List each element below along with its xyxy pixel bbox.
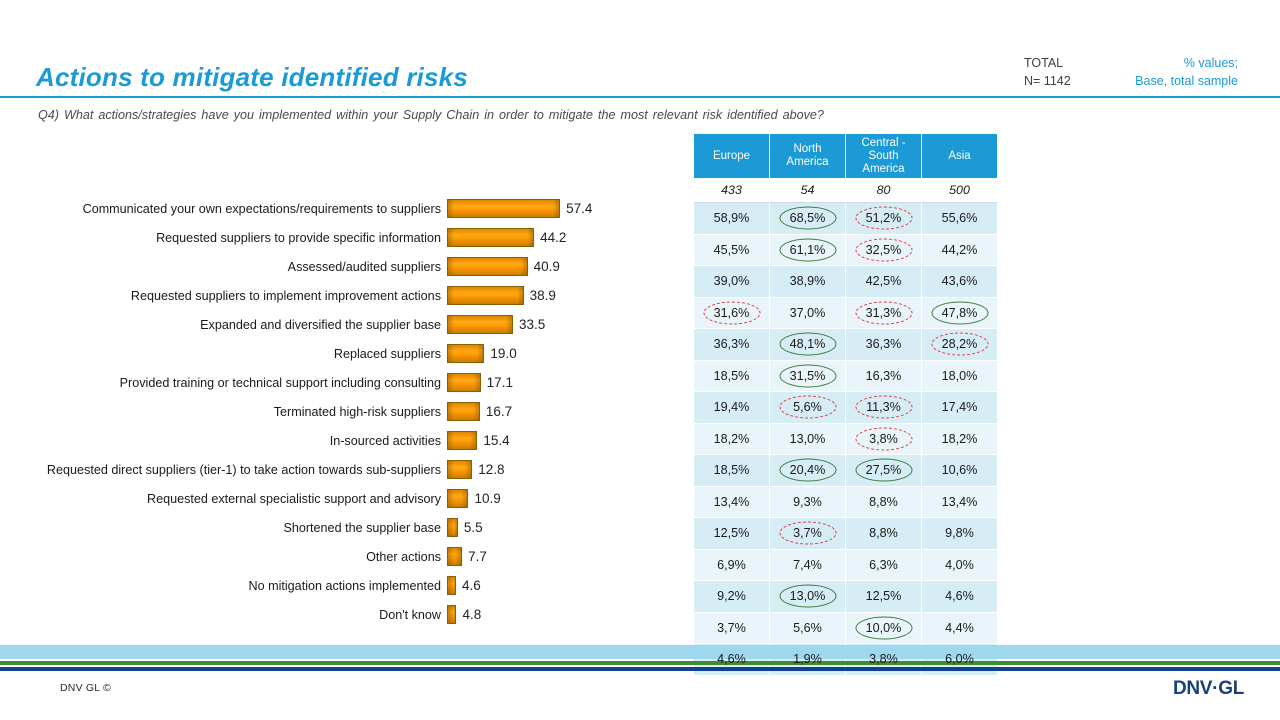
bar-fill xyxy=(447,315,513,334)
table-cell: 18,2% xyxy=(694,423,770,455)
bar-row: Shortened the supplier base5.5 xyxy=(0,513,640,542)
footer-band-green xyxy=(0,661,1280,665)
table-cell-value: 39,0% xyxy=(714,274,750,288)
bar-with-value: 5.5 xyxy=(447,518,483,537)
bar-fill xyxy=(447,373,481,392)
table-cell: 38,9% xyxy=(770,266,846,298)
table-cell-value: 42,5% xyxy=(866,274,902,288)
table-cell: 51,2% xyxy=(846,203,922,235)
table-cell: 4,6% xyxy=(922,581,998,613)
table-cell-value: 6,3% xyxy=(869,558,898,572)
bar-with-value: 19.0 xyxy=(447,344,517,363)
table-cell-value: 13,4% xyxy=(942,495,978,509)
table-row: 3,7%5,6%10,0%4,4% xyxy=(694,612,997,644)
table-cell-value: 5,6% xyxy=(793,400,822,414)
table-row: 45,5%61,1%32,5%44,2% xyxy=(694,234,997,266)
bar-with-value: 44.2 xyxy=(447,228,566,247)
table-cell-value: 10,6% xyxy=(942,463,978,477)
table-cell: 28,2% xyxy=(922,329,998,361)
table-cell: 20,4% xyxy=(770,455,846,487)
table-cell-value: 3,7% xyxy=(793,526,822,540)
table-cell: 4,4% xyxy=(922,612,998,644)
table-cell: 18,5% xyxy=(694,360,770,392)
table-cell-value: 61,1% xyxy=(790,243,826,257)
bar-category-label: Requested suppliers to provide specific … xyxy=(0,231,447,245)
table-cell: 3,7% xyxy=(770,518,846,550)
total-base-block: TOTAL N= 1142 xyxy=(1024,54,1071,90)
table-row: 18,5%20,4%27,5%10,6% xyxy=(694,455,997,487)
total-label: TOTAL xyxy=(1024,54,1071,72)
bar-value-label: 4.8 xyxy=(462,607,481,622)
bar-fill xyxy=(447,257,528,276)
table-cell-value: 1,9% xyxy=(793,652,822,666)
bar-row: Requested external specialistic support … xyxy=(0,484,640,513)
table-cell: 31,5% xyxy=(770,360,846,392)
bar-value-label: 57.4 xyxy=(566,201,592,216)
table-cell: 16,3% xyxy=(846,360,922,392)
table-cell: 19,4% xyxy=(694,392,770,424)
table-cell: 17,4% xyxy=(922,392,998,424)
bar-value-label: 10.9 xyxy=(474,491,500,506)
table-cell-value: 58,9% xyxy=(714,211,750,225)
bar-category-label: Provided training or technical support i… xyxy=(0,376,447,390)
values-note-block: % values; Base, total sample xyxy=(1110,54,1238,90)
bar-with-value: 7.7 xyxy=(447,547,487,566)
table-row: 6,9%7,4%6,3%4,0% xyxy=(694,549,997,581)
bar-fill xyxy=(447,199,560,218)
table-cell: 9,3% xyxy=(770,486,846,518)
table-cell: 55,6% xyxy=(922,203,998,235)
table-cell-value: 9,8% xyxy=(945,526,974,540)
bar-with-value: 57.4 xyxy=(447,199,592,218)
footer-copyright: DNV GL © xyxy=(60,682,111,694)
bar-row: Requested suppliers to provide specific … xyxy=(0,223,640,252)
table-column-header[interactable]: North America xyxy=(770,134,846,178)
table-cell-value: 47,8% xyxy=(942,306,978,320)
table-cell-value: 18,5% xyxy=(714,463,750,477)
table-cell: 10,6% xyxy=(922,455,998,487)
bar-row: Other actions7.7 xyxy=(0,542,640,571)
table-cell-value: 31,5% xyxy=(790,369,826,383)
table-header: EuropeNorth AmericaCentral - South Ameri… xyxy=(694,134,997,178)
table-cell: 48,1% xyxy=(770,329,846,361)
bar-value-label: 40.9 xyxy=(534,259,560,274)
page-title: Actions to mitigate identified risks xyxy=(36,62,468,93)
table-row: 9,2%13,0%12,5%4,6% xyxy=(694,581,997,613)
bar-row: No mitigation actions implemented4.6 xyxy=(0,571,640,600)
table-row: 18,5%31,5%16,3%18,0% xyxy=(694,360,997,392)
table-cell: 42,5% xyxy=(846,266,922,298)
bar-fill xyxy=(447,489,468,508)
question-text: Q4) What actions/strategies have you imp… xyxy=(38,108,824,122)
table-cell-value: 4,4% xyxy=(945,621,974,635)
table-cell-value: 5,6% xyxy=(793,621,822,635)
table-cell-value: 44,2% xyxy=(942,243,978,257)
bar-category-label: Communicated your own expectations/requi… xyxy=(0,202,447,216)
bar-fill xyxy=(447,431,477,450)
table-cell-value: 12,5% xyxy=(866,589,902,603)
table-cell: 4,0% xyxy=(922,549,998,581)
bar-category-label: In-sourced activities xyxy=(0,434,447,448)
table-cell: 31,3% xyxy=(846,297,922,329)
table-cell-value: 48,1% xyxy=(790,337,826,351)
table-row: 58,9%68,5%51,2%55,6% xyxy=(694,203,997,235)
table-cell: 5,6% xyxy=(770,392,846,424)
bar-category-label: No mitigation actions implemented xyxy=(0,579,447,593)
table-cell: 32,5% xyxy=(846,234,922,266)
table-cell: 13,0% xyxy=(770,423,846,455)
table-cell-value: 10,0% xyxy=(866,621,902,635)
table-cell-value: 19,4% xyxy=(714,400,750,414)
table-cell: 8,8% xyxy=(846,518,922,550)
table-cell: 3,8% xyxy=(846,423,922,455)
table-cell: 36,3% xyxy=(694,329,770,361)
table-base-value: 433 xyxy=(694,178,770,203)
table-cell: 12,5% xyxy=(846,581,922,613)
table-cell: 44,2% xyxy=(922,234,998,266)
bar-with-value: 4.8 xyxy=(447,605,481,624)
values-note-line2: Base, total sample xyxy=(1110,72,1238,90)
table-cell-value: 37,0% xyxy=(790,306,826,320)
table-cell-value: 31,3% xyxy=(866,306,902,320)
table-cell: 3,7% xyxy=(694,612,770,644)
bar-with-value: 4.6 xyxy=(447,576,481,595)
bar-value-label: 15.4 xyxy=(483,433,509,448)
table-cell-value: 3,7% xyxy=(717,621,746,635)
bar-with-value: 38.9 xyxy=(447,286,556,305)
table-cell: 8,8% xyxy=(846,486,922,518)
bar-category-label: Other actions xyxy=(0,550,447,564)
table-cell-value: 8,8% xyxy=(869,526,898,540)
table-cell: 68,5% xyxy=(770,203,846,235)
bar-category-label: Don't know xyxy=(0,608,447,622)
bar-value-label: 19.0 xyxy=(490,346,516,361)
table-cell: 18,5% xyxy=(694,455,770,487)
table-column-header[interactable]: Central - South America xyxy=(846,134,922,178)
bar-row: In-sourced activities15.4 xyxy=(0,426,640,455)
table-body: 433548050058,9%68,5%51,2%55,6%45,5%61,1%… xyxy=(694,178,997,675)
bar-row: Communicated your own expectations/requi… xyxy=(0,194,640,223)
table-cell-value: 18,2% xyxy=(714,432,750,446)
bar-row: Requested suppliers to implement improve… xyxy=(0,281,640,310)
table-cell-value: 9,3% xyxy=(793,495,822,509)
table-cell-value: 18,2% xyxy=(942,432,978,446)
table-cell-value: 18,0% xyxy=(942,369,978,383)
bar-fill xyxy=(447,576,456,595)
table-cell: 45,5% xyxy=(694,234,770,266)
table-cell-value: 13,0% xyxy=(790,432,826,446)
footer-band-lightblue xyxy=(0,645,1280,659)
table-header-row: EuropeNorth AmericaCentral - South Ameri… xyxy=(694,134,997,178)
bar-value-label: 5.5 xyxy=(464,520,483,535)
bar-row: Terminated high-risk suppliers16.7 xyxy=(0,397,640,426)
bar-category-label: Assessed/audited suppliers xyxy=(0,260,447,274)
table-cell-value: 4,6% xyxy=(717,652,746,666)
bar-with-value: 40.9 xyxy=(447,257,560,276)
table-cell-value: 13,4% xyxy=(714,495,750,509)
table-cell-value: 7,4% xyxy=(793,558,822,572)
bar-fill xyxy=(447,605,456,624)
title-divider xyxy=(0,96,1280,98)
bar-value-label: 17.1 xyxy=(487,375,513,390)
table-cell-value: 3,8% xyxy=(869,652,898,666)
table-cell-value: 51,2% xyxy=(866,211,902,225)
table-cell: 36,3% xyxy=(846,329,922,361)
table-cell: 47,8% xyxy=(922,297,998,329)
table-cell-value: 31,6% xyxy=(714,306,750,320)
table-cell-value: 55,6% xyxy=(942,211,978,225)
values-note-line1: % values; xyxy=(1110,54,1238,72)
bar-fill xyxy=(447,228,534,247)
table-cell: 6,9% xyxy=(694,549,770,581)
total-n-value: N= 1142 xyxy=(1024,72,1071,90)
table-cell: 12,5% xyxy=(694,518,770,550)
dnv-gl-logo: DNV·GL xyxy=(1173,678,1244,700)
bar-row: Replaced suppliers19.0 xyxy=(0,339,640,368)
table-cell-value: 11,3% xyxy=(866,400,901,414)
bar-value-label: 7.7 xyxy=(468,549,487,564)
table-cell-value: 3,8% xyxy=(869,432,898,446)
table-cell-value: 43,6% xyxy=(942,274,978,288)
table-row: 13,4%9,3%8,8%13,4% xyxy=(694,486,997,518)
table-cell: 9,8% xyxy=(922,518,998,550)
bar-value-label: 33.5 xyxy=(519,317,545,332)
table-cell: 37,0% xyxy=(770,297,846,329)
table-cell: 18,0% xyxy=(922,360,998,392)
table-cell-value: 8,8% xyxy=(869,495,898,509)
table-cell: 9,2% xyxy=(694,581,770,613)
bar-category-label: Expanded and diversified the supplier ba… xyxy=(0,318,447,332)
table-cell: 7,4% xyxy=(770,549,846,581)
table-cell-value: 20,4% xyxy=(790,463,826,477)
bar-row: Expanded and diversified the supplier ba… xyxy=(0,310,640,339)
table-cell: 11,3% xyxy=(846,392,922,424)
table-column-header[interactable]: Europe xyxy=(694,134,770,178)
table-base-value: 54 xyxy=(770,178,846,203)
bar-chart: Communicated your own expectations/requi… xyxy=(0,194,640,629)
table-cell-value: 36,3% xyxy=(714,337,750,351)
table-cell: 27,5% xyxy=(846,455,922,487)
table-cell-value: 18,5% xyxy=(714,369,750,383)
bar-row: Don't know4.8 xyxy=(0,600,640,629)
table-cell: 13,4% xyxy=(922,486,998,518)
bar-value-label: 38.9 xyxy=(530,288,556,303)
table-row: 18,2%13,0%3,8%18,2% xyxy=(694,423,997,455)
table-cell-value: 36,3% xyxy=(866,337,902,351)
table-cell: 5,6% xyxy=(770,612,846,644)
table-cell: 31,6% xyxy=(694,297,770,329)
table-cell-value: 38,9% xyxy=(790,274,826,288)
bar-fill xyxy=(447,344,484,363)
table-cell-value: 32,5% xyxy=(866,243,902,257)
bar-with-value: 17.1 xyxy=(447,373,513,392)
bar-category-label: Replaced suppliers xyxy=(0,347,447,361)
table-cell: 13,0% xyxy=(770,581,846,613)
table-cell-value: 68,5% xyxy=(790,211,826,225)
table-row: 12,5%3,7%8,8%9,8% xyxy=(694,518,997,550)
bar-value-label: 4.6 xyxy=(462,578,481,593)
table-cell: 13,4% xyxy=(694,486,770,518)
table-cell-value: 13,0% xyxy=(790,589,826,603)
table-cell-value: 17,4% xyxy=(942,400,978,414)
table-cell: 6,3% xyxy=(846,549,922,581)
table-cell-value: 12,5% xyxy=(714,526,750,540)
table-row: 36,3%48,1%36,3%28,2% xyxy=(694,329,997,361)
table-cell: 39,0% xyxy=(694,266,770,298)
bar-value-label: 44.2 xyxy=(540,230,566,245)
bar-with-value: 10.9 xyxy=(447,489,501,508)
table-cell-value: 6,0% xyxy=(945,652,974,666)
table-row: 19,4%5,6%11,3%17,4% xyxy=(694,392,997,424)
table-cell-value: 6,9% xyxy=(717,558,746,572)
table-base-value: 80 xyxy=(846,178,922,203)
bar-category-label: Requested suppliers to implement improve… xyxy=(0,289,447,303)
table-cell-value: 27,5% xyxy=(866,463,902,477)
bar-fill xyxy=(447,518,458,537)
table-base-row: 4335480500 xyxy=(694,178,997,203)
table-cell: 58,9% xyxy=(694,203,770,235)
bar-row: Requested direct suppliers (tier-1) to t… xyxy=(0,455,640,484)
table-row: 39,0%38,9%42,5%43,6% xyxy=(694,266,997,298)
bar-value-label: 16.7 xyxy=(486,404,512,419)
bar-fill xyxy=(447,460,472,479)
bar-with-value: 33.5 xyxy=(447,315,545,334)
bar-row: Provided training or technical support i… xyxy=(0,368,640,397)
bar-category-label: Requested direct suppliers (tier-1) to t… xyxy=(0,463,447,477)
bar-row: Assessed/audited suppliers40.9 xyxy=(0,252,640,281)
table-cell-value: 9,2% xyxy=(717,589,746,603)
bar-category-label: Requested external specialistic support … xyxy=(0,492,447,506)
bar-with-value: 15.4 xyxy=(447,431,510,450)
table-cell: 61,1% xyxy=(770,234,846,266)
bar-fill xyxy=(447,402,480,421)
footer-band-darkblue xyxy=(0,667,1280,671)
table-column-header[interactable]: Asia xyxy=(922,134,998,178)
bar-fill xyxy=(447,547,462,566)
table-row: 31,6%37,0%31,3%47,8% xyxy=(694,297,997,329)
table-cell: 18,2% xyxy=(922,423,998,455)
bar-fill xyxy=(447,286,524,305)
table-cell-value: 4,6% xyxy=(945,589,974,603)
bar-with-value: 16.7 xyxy=(447,402,512,421)
table-base-value: 500 xyxy=(922,178,998,203)
bar-with-value: 12.8 xyxy=(447,460,504,479)
region-breakdown-table: EuropeNorth AmericaCentral - South Ameri… xyxy=(694,134,997,675)
table-cell-value: 4,0% xyxy=(945,558,974,572)
bar-value-label: 12.8 xyxy=(478,462,504,477)
table-cell-value: 16,3% xyxy=(866,369,902,383)
table-cell-value: 45,5% xyxy=(714,243,750,257)
table-cell: 43,6% xyxy=(922,266,998,298)
bar-category-label: Terminated high-risk suppliers xyxy=(0,405,447,419)
table-cell-value: 28,2% xyxy=(942,337,978,351)
bar-category-label: Shortened the supplier base xyxy=(0,521,447,535)
table-cell: 10,0% xyxy=(846,612,922,644)
